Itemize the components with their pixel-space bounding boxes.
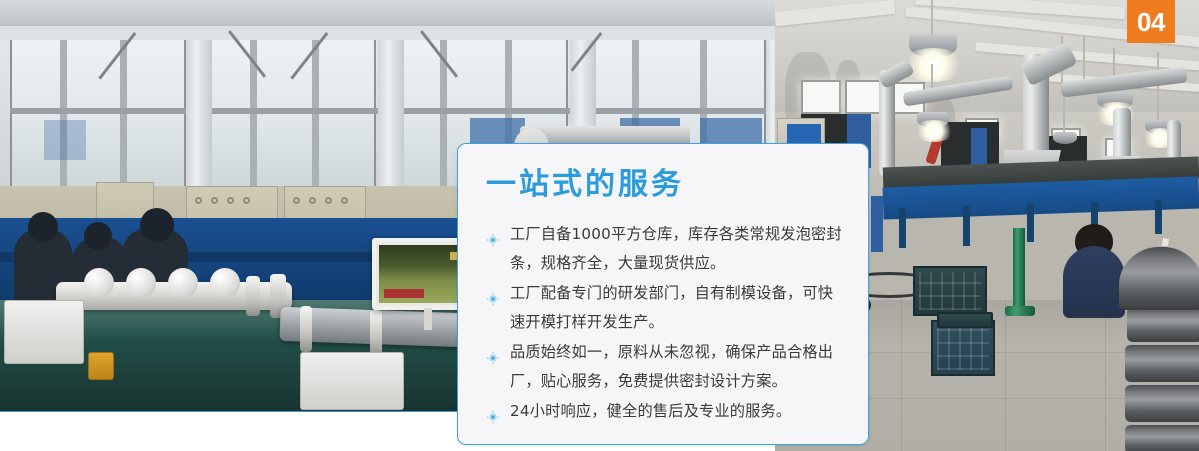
worker-head xyxy=(140,208,174,242)
list-item-text: 品质始终如一，原料从未忽视，确保产品合格出厂，贴心服务，免费提供密封设计方案。 xyxy=(510,343,833,390)
lamp-wire xyxy=(931,0,933,36)
crate-lid xyxy=(937,312,993,328)
machine-post xyxy=(871,196,883,252)
list-item: 24小时响应，健全的售后及专业的服务。 xyxy=(486,397,844,426)
material-coil xyxy=(1125,344,1199,382)
worker-body xyxy=(1063,246,1125,318)
yellow-box xyxy=(88,352,114,380)
pole-base xyxy=(1005,306,1035,316)
tile-joint xyxy=(901,300,902,451)
material-coil-top xyxy=(1119,246,1199,310)
promo-banner: 04 一站式的服务 工厂自备1000平方仓库，库存各类常规发泡密封条，规格齐全，… xyxy=(0,0,1199,451)
equipment-cart xyxy=(300,352,404,410)
service-info-card: 一站式的服务 工厂自备1000平方仓库，库存各类常规发泡密封条，规格齐全，大量现… xyxy=(457,143,869,445)
target-dot-icon xyxy=(486,405,500,419)
cabinet-dials xyxy=(195,197,250,204)
tile-joint xyxy=(1005,300,1006,451)
roller xyxy=(84,268,114,298)
screen-alert-bar xyxy=(384,289,424,298)
roller xyxy=(168,268,198,298)
conveyor-leg xyxy=(963,206,970,246)
material-coil xyxy=(1125,384,1199,422)
conveyor-leg xyxy=(899,208,906,248)
lamp-wire xyxy=(1157,52,1159,122)
window-pane xyxy=(801,80,841,114)
lamp-shade xyxy=(1053,132,1077,144)
conveyor-leg xyxy=(1027,204,1034,242)
storage-crate xyxy=(913,266,987,316)
green-support-pole xyxy=(1013,228,1025,312)
cabinet-dials xyxy=(293,197,348,204)
material-coil xyxy=(1127,306,1199,342)
storage-crate xyxy=(931,320,995,376)
equipment-cart xyxy=(4,300,84,364)
lamp-glow xyxy=(913,120,955,142)
ceiling-soffit xyxy=(0,26,776,40)
worker-head xyxy=(28,212,58,242)
list-item-text: 工厂配备专门的研发部门，自有制模设备，可快速开模打样开发生产。 xyxy=(510,284,833,331)
panel-stand xyxy=(424,308,432,330)
barrel-flange xyxy=(246,276,260,316)
card-title: 一站式的服务 xyxy=(486,170,844,200)
service-bullet-list: 工厂自备1000平方仓库，库存各类常规发泡密封条，规格齐全，大量现货供应。 工厂… xyxy=(486,220,844,426)
material-coil xyxy=(1125,424,1199,451)
tile-joint xyxy=(1105,300,1106,451)
barrel-flange xyxy=(300,306,312,352)
step-number-text: 04 xyxy=(1137,9,1165,35)
list-item-text: 工厂自备1000平方仓库，库存各类常规发泡密封条，规格齐全，大量现货供应。 xyxy=(510,225,842,272)
barrel-flange xyxy=(370,310,382,356)
roller xyxy=(126,268,156,298)
list-item: 品质始终如一，原料从未忽视，确保产品合格出厂，贴心服务，免费提供密封设计方案。 xyxy=(486,338,844,396)
crate-mesh xyxy=(919,272,981,310)
roller xyxy=(210,268,240,298)
crate-mesh xyxy=(937,326,989,370)
list-item: 工厂配备专门的研发部门，自有制模设备，可快速开模打样开发生产。 xyxy=(486,279,844,337)
target-dot-icon xyxy=(486,228,500,242)
step-number-badge: 04 xyxy=(1127,0,1175,43)
target-dot-icon xyxy=(486,346,500,360)
worker-head xyxy=(84,222,112,250)
list-item-text: 24小时响应，健全的售后及专业的服务。 xyxy=(510,402,791,420)
conveyor-leg xyxy=(1155,200,1162,234)
list-item: 工厂自备1000平方仓库，库存各类常规发泡密封条，规格齐全，大量现货供应。 xyxy=(486,220,844,278)
blue-glass xyxy=(44,120,86,160)
lamp-wire xyxy=(1063,94,1065,134)
target-dot-icon xyxy=(486,287,500,301)
